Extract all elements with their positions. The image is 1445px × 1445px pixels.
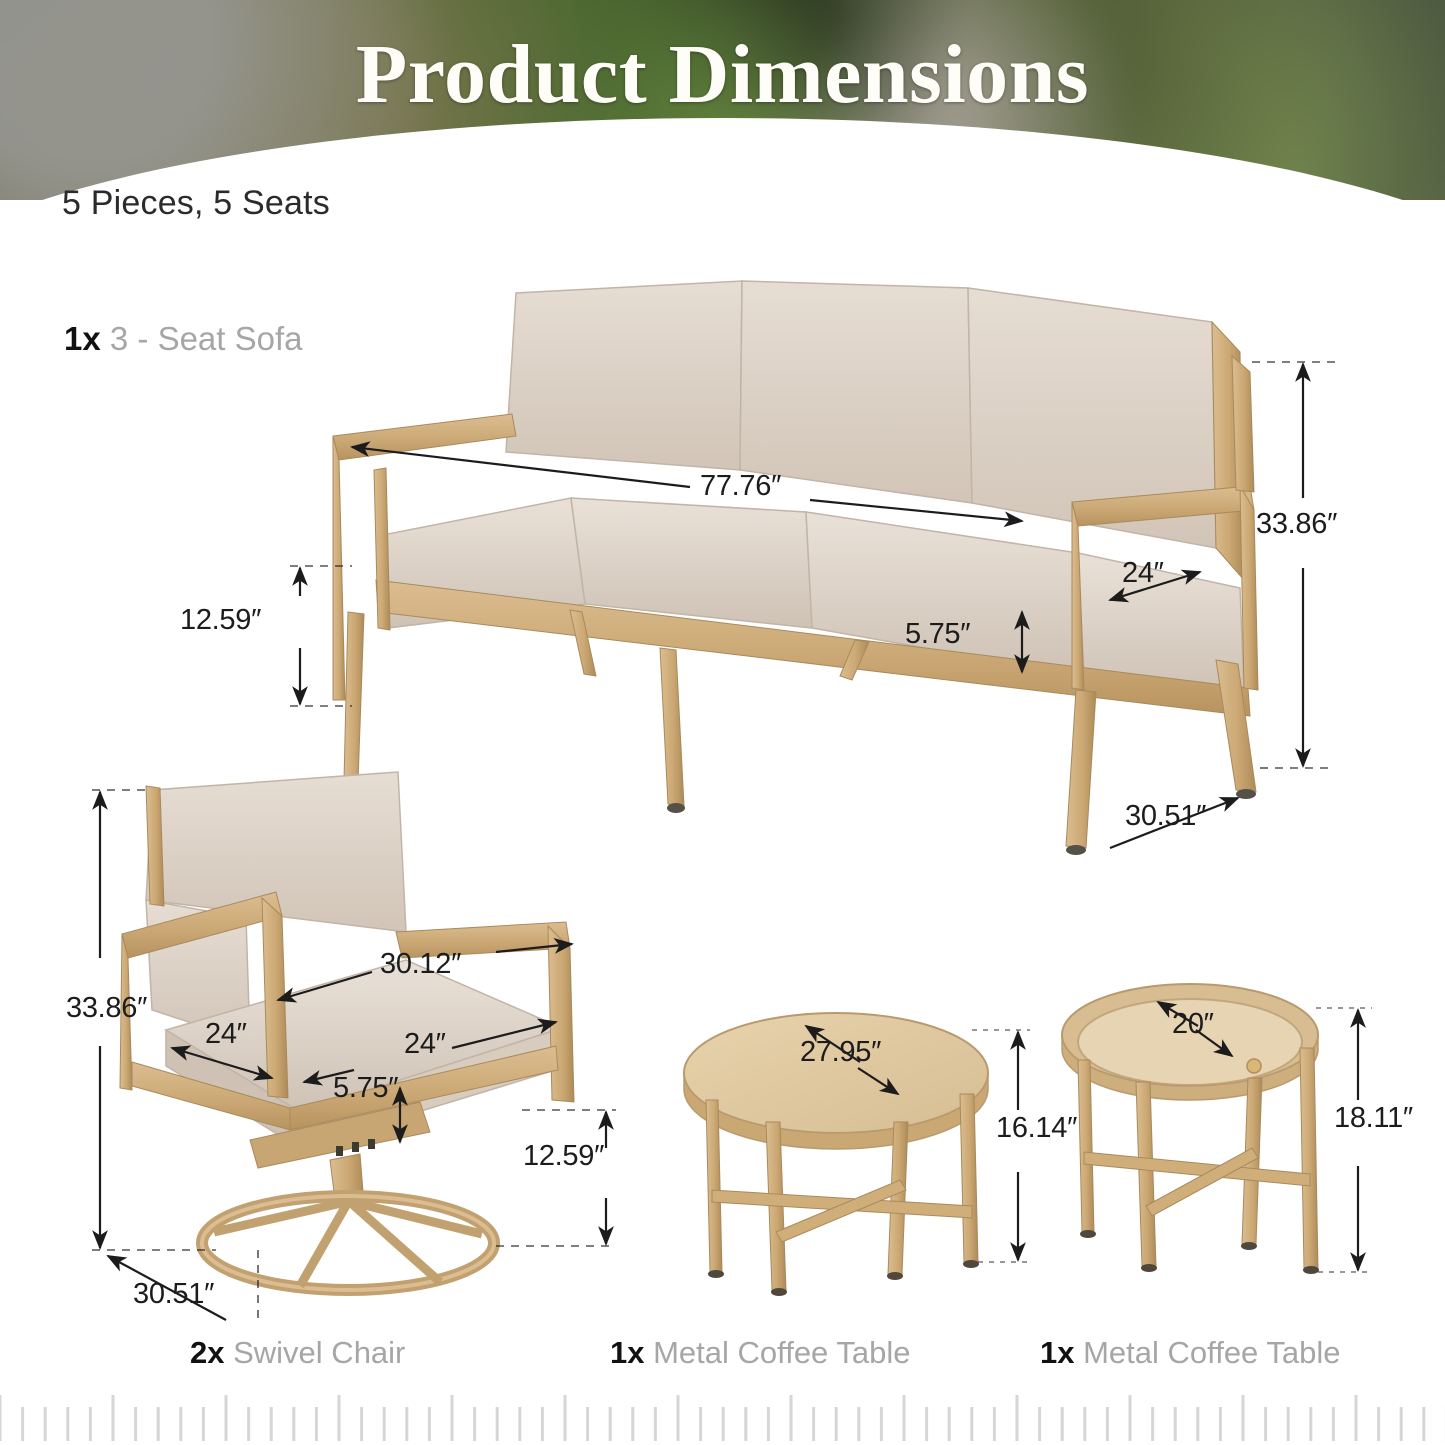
dim-chair-cushion: 5.75″: [333, 1072, 398, 1105]
side-table-dimension-lines: [1158, 1002, 1372, 1272]
item-qty: 1x: [610, 1335, 644, 1370]
chair-dimension-lines: [92, 790, 616, 1320]
dim-chair-seat-depth: 24″: [404, 1028, 446, 1061]
dim-sofa-seat-height: 12.59″: [180, 604, 261, 637]
dim-chair-seat-height: 12.59″: [523, 1140, 604, 1173]
sofa-illustration: [333, 281, 1258, 855]
dim-chair-height: 33.86″: [66, 992, 147, 1025]
sofa-dimension-lines: [290, 362, 1335, 848]
dim-sofa-cushion: 5.75″: [905, 618, 970, 651]
dim-sofa-height: 33.86″: [1256, 508, 1337, 541]
item-label-swivel-chair: 2x Swivel Chair: [190, 1335, 405, 1371]
page-subtitle: 5 Pieces, 5 Seats: [62, 184, 330, 223]
dim-side-height: 18.11″: [1334, 1102, 1413, 1135]
page-title: Product Dimensions: [0, 33, 1445, 117]
item-qty: 1x: [1040, 1335, 1074, 1370]
ruler-strip: [0, 1393, 1445, 1445]
dim-coffee-diameter: 27.95″: [800, 1036, 881, 1069]
dim-sofa-width: 77.76″: [700, 470, 781, 503]
dim-side-diameter: 20″: [1172, 1008, 1214, 1041]
item-name: Swivel Chair: [233, 1335, 405, 1370]
dim-sofa-depth: 30.51″: [1125, 800, 1206, 833]
item-label-sofa: 1x 3 - Seat Sofa: [64, 320, 303, 358]
item-label-side-table: 1x Metal Coffee Table: [1040, 1335, 1340, 1371]
product-dimensions-infographic: Product Dimensions 5 Pieces, 5 Seats 1x …: [0, 0, 1445, 1445]
item-name: Metal Coffee Table: [1083, 1335, 1340, 1370]
dim-chair-width: 30.12″: [380, 948, 461, 981]
item-name: Metal Coffee Table: [653, 1335, 910, 1370]
dim-chair-back-depth: 24″: [205, 1018, 247, 1051]
dim-sofa-seat-depth: 24″: [1122, 557, 1164, 590]
item-qty: 1x: [64, 320, 101, 357]
swivel-chair-illustration: [120, 772, 574, 1290]
item-qty: 2x: [190, 1335, 224, 1370]
item-label-coffee-table: 1x Metal Coffee Table: [610, 1335, 910, 1371]
item-name: 3 - Seat Sofa: [110, 320, 303, 357]
dim-chair-base-depth: 30.51″: [133, 1278, 214, 1311]
dim-coffee-height: 16.14″: [996, 1112, 1077, 1145]
